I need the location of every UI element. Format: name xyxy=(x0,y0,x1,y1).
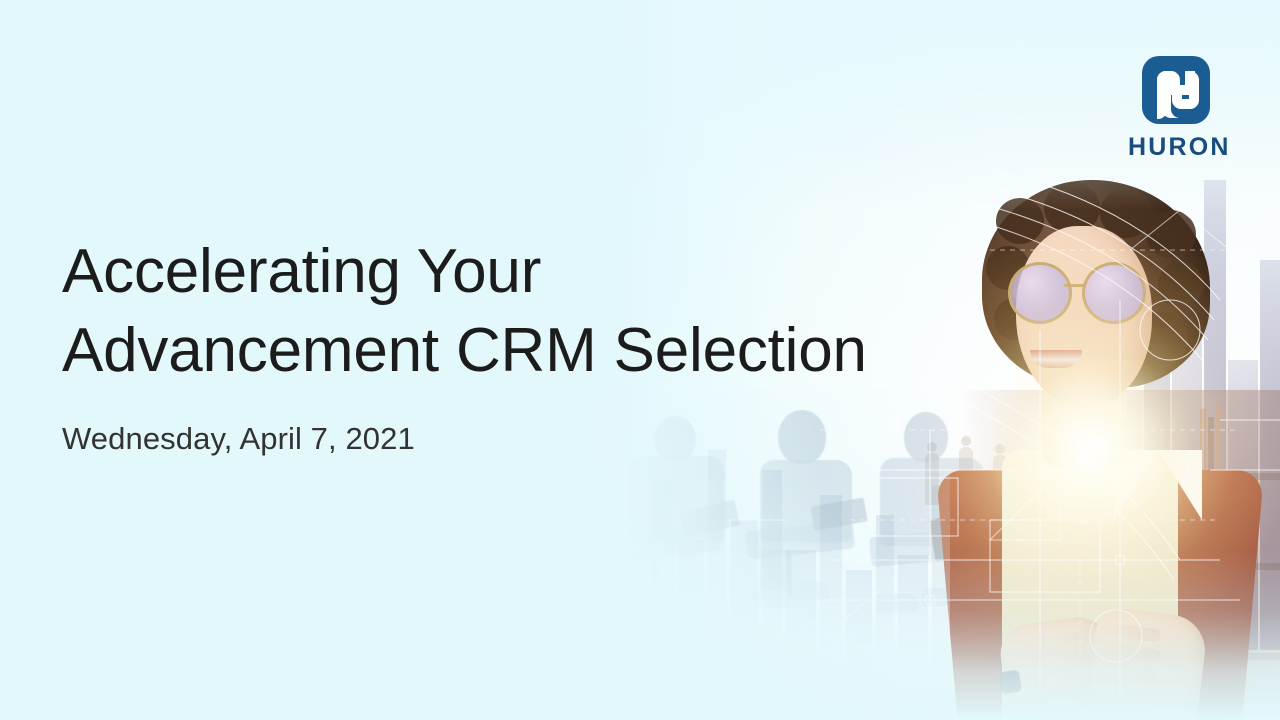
title-slide: HURON Accelerating Your Advancement CRM … xyxy=(0,0,1280,720)
huron-logo[interactable]: HURON xyxy=(1128,56,1224,160)
huron-interlocking-h-mark xyxy=(1142,56,1210,124)
page-title: Accelerating Your Advancement CRM Select… xyxy=(62,232,942,391)
event-date: Wednesday, April 7, 2021 xyxy=(62,421,942,457)
title-text-block: Accelerating Your Advancement CRM Select… xyxy=(62,232,942,457)
huron-wordmark: HURON xyxy=(1128,135,1224,160)
sun-flare-core xyxy=(990,360,1190,540)
